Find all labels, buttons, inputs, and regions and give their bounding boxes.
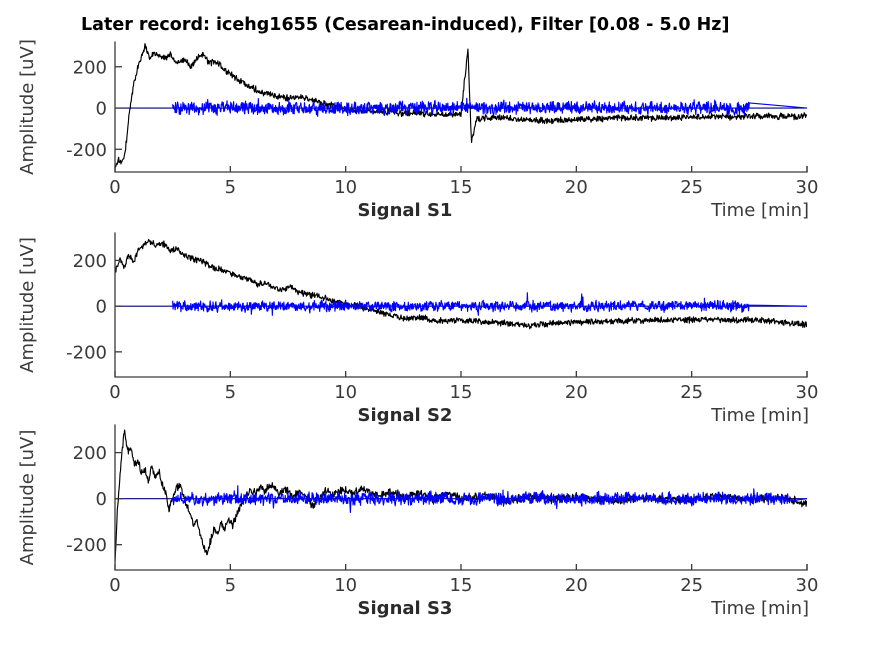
x-tick-label: 15 bbox=[450, 382, 473, 403]
x-tick-label: 25 bbox=[680, 575, 703, 596]
x-tick-label: 30 bbox=[796, 575, 819, 596]
y-tick-label: 0 bbox=[96, 489, 107, 510]
y-tick-label: 200 bbox=[73, 251, 107, 272]
x-tick-label: 20 bbox=[565, 575, 588, 596]
x-tick-label: 10 bbox=[334, 382, 357, 403]
x-axis-label: Time [min] bbox=[710, 405, 809, 426]
x-tick-label: 0 bbox=[109, 382, 120, 403]
x-tick-label: 20 bbox=[565, 382, 588, 403]
x-tick-label: 10 bbox=[334, 177, 357, 198]
x-tick-label: 15 bbox=[450, 575, 473, 596]
panel-label: Signal S1 bbox=[358, 200, 453, 221]
x-tick-label: 10 bbox=[334, 575, 357, 596]
y-axis-label: Amplitude [uV] bbox=[17, 39, 38, 175]
x-tick-label: 30 bbox=[796, 382, 819, 403]
figure-canvas: Later record: icehg1655 (Cesarean-induce… bbox=[0, 0, 891, 645]
chart-svg: Later record: icehg1655 (Cesarean-induce… bbox=[0, 0, 891, 645]
x-axis-label: Time [min] bbox=[710, 200, 809, 221]
y-tick-label: -200 bbox=[66, 535, 107, 556]
x-tick-label: 20 bbox=[565, 177, 588, 198]
x-tick-label: 5 bbox=[225, 575, 236, 596]
x-tick-label: 5 bbox=[225, 177, 236, 198]
x-tick-label: 0 bbox=[109, 177, 120, 198]
figure-title: Later record: icehg1655 (Cesarean-induce… bbox=[81, 15, 729, 35]
x-tick-label: 0 bbox=[109, 575, 120, 596]
x-axis-label: Time [min] bbox=[710, 598, 809, 619]
y-tick-label: -200 bbox=[66, 140, 107, 161]
x-tick-label: 25 bbox=[680, 382, 703, 403]
x-tick-label: 25 bbox=[680, 177, 703, 198]
y-tick-label: 0 bbox=[96, 99, 107, 120]
y-tick-label: 0 bbox=[96, 297, 107, 318]
figure-background bbox=[0, 0, 891, 645]
y-axis-label: Amplitude [uV] bbox=[17, 237, 38, 373]
panel-label: Signal S2 bbox=[358, 405, 453, 426]
panel-label: Signal S3 bbox=[358, 598, 453, 619]
x-tick-label: 30 bbox=[796, 177, 819, 198]
y-axis-label: Amplitude [uV] bbox=[17, 430, 38, 566]
x-tick-label: 15 bbox=[450, 177, 473, 198]
y-tick-label: 200 bbox=[73, 57, 107, 78]
y-tick-label: -200 bbox=[66, 342, 107, 363]
x-tick-label: 5 bbox=[225, 382, 236, 403]
y-tick-label: 200 bbox=[73, 443, 107, 464]
